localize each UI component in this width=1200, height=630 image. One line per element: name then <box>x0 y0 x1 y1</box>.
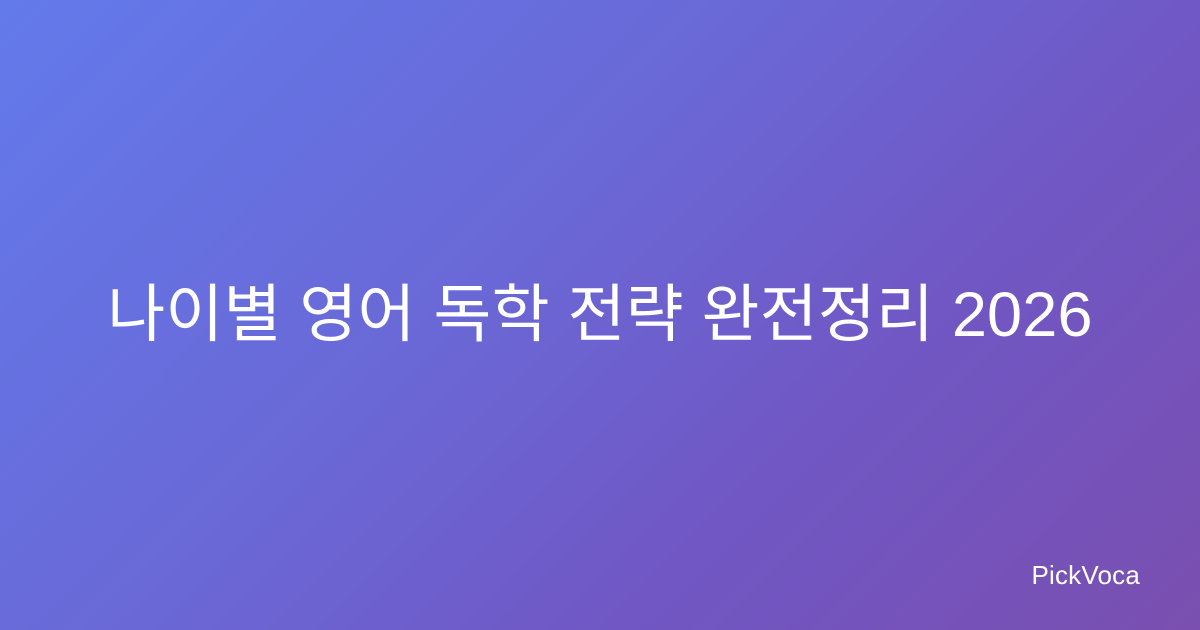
og-image-card: 나이별 영어 독학 전략 완전정리 2026 PickVoca <box>0 0 1200 630</box>
page-title: 나이별 영어 독학 전략 완전정리 2026 <box>107 275 1093 356</box>
brand-logo-text: PickVoca <box>1031 562 1140 588</box>
title-area: 나이별 영어 독학 전략 완전정리 2026 <box>0 0 1200 630</box>
